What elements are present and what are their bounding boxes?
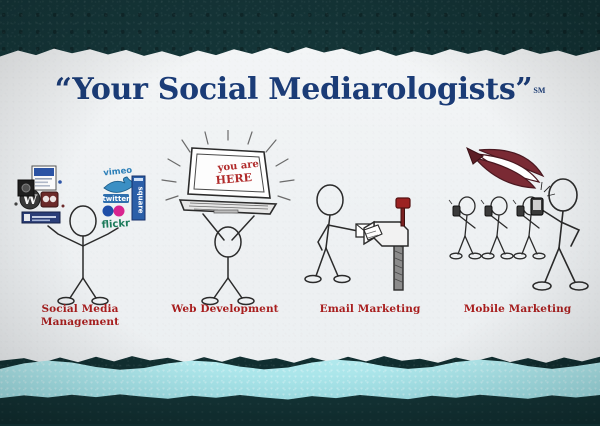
illustration-social-media-management: W: [8, 130, 158, 310]
social-logo-cluster-left: W: [14, 166, 64, 223]
illustration-email-marketing: [298, 130, 443, 310]
label-line: Mobile Marketing: [440, 303, 595, 316]
label-social-media-management: Social Media Management: [10, 303, 150, 329]
label-line: Social Media: [10, 303, 150, 316]
label-line: Web Development: [150, 303, 300, 316]
mailbox: [364, 198, 410, 290]
service-mark: SM: [533, 86, 545, 95]
label-email-marketing: Email Marketing: [295, 303, 445, 316]
laptop: you are HERE: [180, 148, 276, 214]
label-mobile-marketing: Mobile Marketing: [440, 303, 595, 316]
svg-text:twitter: twitter: [102, 195, 130, 203]
illustration-row: W: [0, 130, 600, 310]
service-labels: Social Media Management Web Development …: [0, 303, 600, 349]
illustration-web-development: you are HERE: [158, 130, 298, 310]
title-area: “Your Social Mediarologists”SM: [0, 72, 600, 107]
slide-canvas: “Your Social Mediarologists”SM: [0, 0, 600, 424]
svg-text:square: square: [137, 186, 145, 213]
broadcast-signal: [467, 148, 543, 188]
svg-text:flickr: flickr: [101, 218, 130, 231]
social-logo-cluster-right: vimeo twitter flickr square: [101, 166, 145, 231]
lead-figure: [533, 179, 588, 290]
label-line: Management: [10, 316, 150, 329]
svg-text:vimeo: vimeo: [103, 166, 133, 179]
page-title: “Your Social Mediarologists”: [55, 72, 533, 107]
label-web-development: Web Development: [150, 303, 300, 316]
label-line: Email Marketing: [295, 303, 445, 316]
illustration-mobile-marketing: [443, 130, 598, 310]
